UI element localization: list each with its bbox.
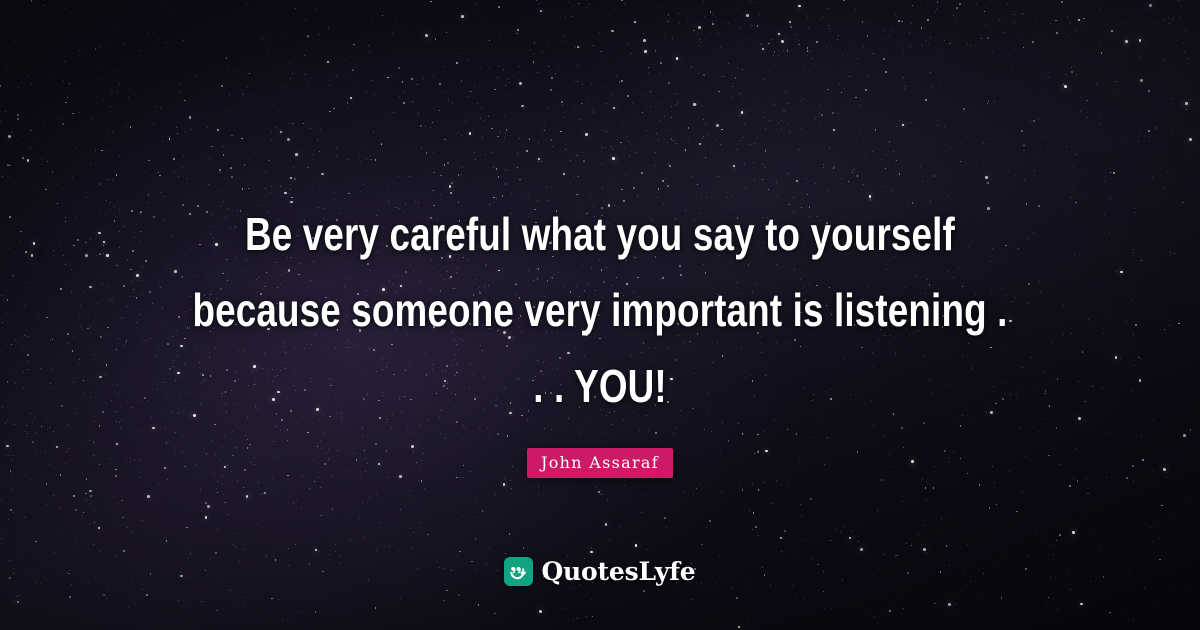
quote-smiley-icon xyxy=(504,557,533,586)
quote-line-3: . . YOU! xyxy=(120,348,1080,424)
brand-name: QuotesLyfe xyxy=(541,557,695,586)
quote-text-block: Be very careful what you say to yourself… xyxy=(0,196,1200,424)
author-badge[interactable]: John Assaraf xyxy=(527,448,673,478)
brand-logo[interactable]: QuotesLyfe xyxy=(0,557,1200,586)
quote-line-1: Be very careful what you say to yourself xyxy=(120,196,1080,272)
quote-line-2: because someone very important is listen… xyxy=(120,272,1080,348)
author-row: John Assaraf xyxy=(0,448,1200,478)
quote-card: Be very careful what you say to yourself… xyxy=(0,0,1200,630)
